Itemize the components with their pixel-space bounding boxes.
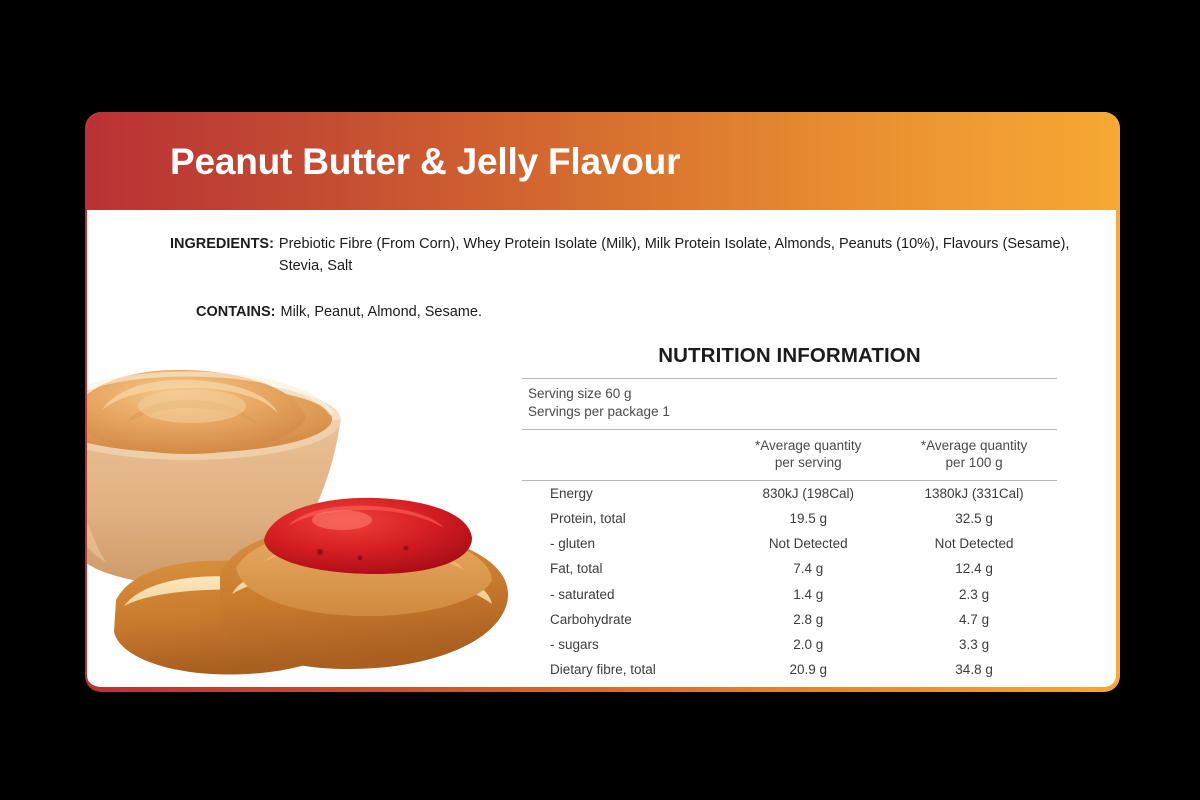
- value-per-serving: 2.0 g: [725, 632, 891, 657]
- servings-per-package: Servings per package 1: [528, 403, 1057, 421]
- contains-label: CONTAINS:: [196, 302, 280, 324]
- column-header-per-100g-line2: per 100 g: [891, 454, 1057, 471]
- table-row: Energy830kJ (198Cal)1380kJ (331Cal): [522, 481, 1057, 507]
- nutrient-name: - sugars: [522, 632, 725, 657]
- nutrition-information-panel: NUTRITION INFORMATION Serving size 60 g …: [522, 344, 1057, 692]
- value-per-100g: Not Detected: [891, 532, 1057, 557]
- value-per-serving: 7.4 g: [725, 557, 891, 582]
- column-header-blank: [522, 429, 725, 481]
- value-per-serving: 20.9 g: [725, 658, 891, 683]
- value-per-100g: 32.5 g: [891, 506, 1057, 531]
- nutrition-table-body: Energy830kJ (198Cal)1380kJ (331Cal)Prote…: [522, 481, 1057, 692]
- ingredients-label: INGREDIENTS:: [170, 234, 279, 256]
- nutrition-table: *Average quantity per serving *Average q…: [522, 429, 1057, 692]
- column-header-per-100g: *Average quantity per 100 g: [891, 429, 1057, 481]
- value-per-100g: 3.3 g: [891, 632, 1057, 657]
- table-row: - saturated1.4 g2.3 g: [522, 582, 1057, 607]
- product-label-card: Peanut Butter & Jelly Flavour INGREDIENT…: [85, 112, 1120, 692]
- value-per-serving: Not Detected: [725, 532, 891, 557]
- serving-size: Serving size 60 g: [528, 385, 1057, 403]
- value-per-100g: 34.8 g: [891, 658, 1057, 683]
- nutrient-name: Fat, total: [522, 557, 725, 582]
- product-photo: [85, 362, 520, 692]
- card-header-band: Peanut Butter & Jelly Flavour: [87, 112, 1116, 210]
- nutrient-name: - saturated: [522, 582, 725, 607]
- nutrient-name: Energy: [522, 481, 725, 507]
- contains-row: CONTAINS: Milk, Peanut, Almond, Sesame.: [170, 302, 1076, 324]
- nutrient-name: Protein, total: [522, 506, 725, 531]
- column-header-per-100g-line1: *Average quantity: [891, 437, 1057, 454]
- table-row: Sodium129 mg215 mg: [522, 683, 1057, 692]
- value-per-100g: 1380kJ (331Cal): [891, 481, 1057, 507]
- value-per-serving: 830kJ (198Cal): [725, 481, 891, 507]
- value-per-serving: 2.8 g: [725, 607, 891, 632]
- nutrition-header-row: *Average quantity per serving *Average q…: [522, 429, 1057, 481]
- value-per-100g: 4.7 g: [891, 607, 1057, 632]
- value-per-100g: 12.4 g: [891, 557, 1057, 582]
- table-row: - sugars2.0 g3.3 g: [522, 632, 1057, 657]
- table-row: Fat, total7.4 g12.4 g: [522, 557, 1057, 582]
- nutrient-name: Dietary fibre, total: [522, 658, 725, 683]
- table-row: Dietary fibre, total20.9 g34.8 g: [522, 658, 1057, 683]
- column-header-per-serving: *Average quantity per serving: [725, 429, 891, 481]
- value-per-serving: 19.5 g: [725, 506, 891, 531]
- page-title: Peanut Butter & Jelly Flavour: [170, 143, 680, 180]
- nutrient-name: Sodium: [522, 683, 725, 692]
- nutrition-table-head: *Average quantity per serving *Average q…: [522, 429, 1057, 481]
- table-row: - glutenNot DetectedNot Detected: [522, 532, 1057, 557]
- value-per-serving: 129 mg: [725, 683, 891, 692]
- serving-info: Serving size 60 g Servings per package 1: [522, 379, 1057, 429]
- screenshot-root: Peanut Butter & Jelly Flavour INGREDIENT…: [0, 0, 1200, 800]
- table-row: Protein, total19.5 g32.5 g: [522, 506, 1057, 531]
- nutrition-panel-title: NUTRITION INFORMATION: [522, 344, 1057, 368]
- nutrient-name: Carbohydrate: [522, 607, 725, 632]
- column-header-per-serving-line2: per serving: [725, 454, 891, 471]
- table-row: Carbohydrate2.8 g4.7 g: [522, 607, 1057, 632]
- nutrient-name: - gluten: [522, 532, 725, 557]
- ingredients-row: INGREDIENTS: Prebiotic Fibre (From Corn)…: [170, 234, 1076, 278]
- column-header-per-serving-line1: *Average quantity: [725, 437, 891, 454]
- contains-value: Milk, Peanut, Almond, Sesame.: [280, 302, 1076, 324]
- ingredients-value: Prebiotic Fibre (From Corn), Whey Protei…: [279, 234, 1076, 278]
- value-per-serving: 1.4 g: [725, 582, 891, 607]
- value-per-100g: 215 mg: [891, 683, 1057, 692]
- value-per-100g: 2.3 g: [891, 582, 1057, 607]
- ingredients-section: INGREDIENTS: Prebiotic Fibre (From Corn)…: [87, 210, 1116, 323]
